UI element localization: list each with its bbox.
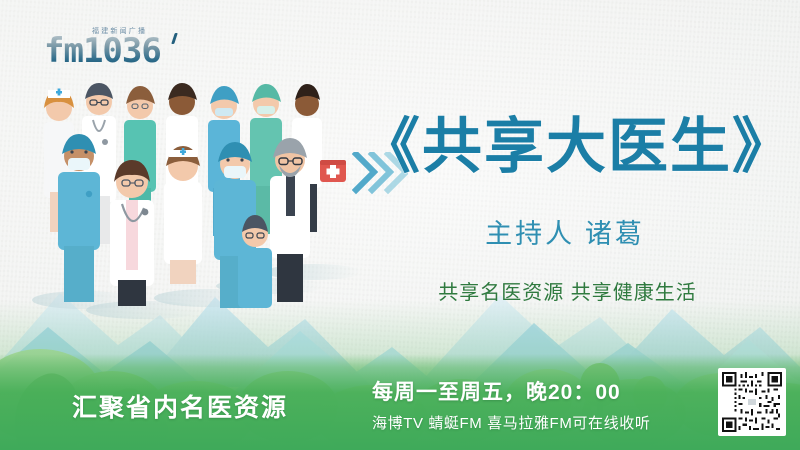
station-logo: 福建新闻广播 fm1036 <box>44 26 184 70</box>
figure-doctor-female-stethoscope <box>110 160 154 306</box>
logo-accent-mark <box>171 33 178 44</box>
qr-code[interactable] <box>718 368 786 436</box>
first-aid-kit-icon <box>320 160 346 182</box>
figure-young-staff <box>238 215 272 308</box>
tagline: 共享名医资源 共享健康生活 <box>415 276 720 305</box>
program-title: 《共享大医生》 <box>360 104 780 190</box>
station-logo-text: fm1036 <box>44 34 161 68</box>
host-line: 主持人 诸葛 <box>440 212 690 251</box>
band-slogan: 汇聚省内名医资源 <box>72 388 288 424</box>
poster-root: 福建新闻广播 fm1036 《共享大医生》 主持人 诸葛 共享名医资源 共享健康… <box>0 0 800 450</box>
broadcast-schedule: 每周一至周五，晚20：00 <box>372 376 702 406</box>
figure-nurse-cap-front <box>164 146 202 284</box>
medical-staff-illustration <box>14 64 364 324</box>
listening-channels: 海博TV 蜻蜓FM 喜马拉雅FM可在线收听 <box>372 412 712 433</box>
